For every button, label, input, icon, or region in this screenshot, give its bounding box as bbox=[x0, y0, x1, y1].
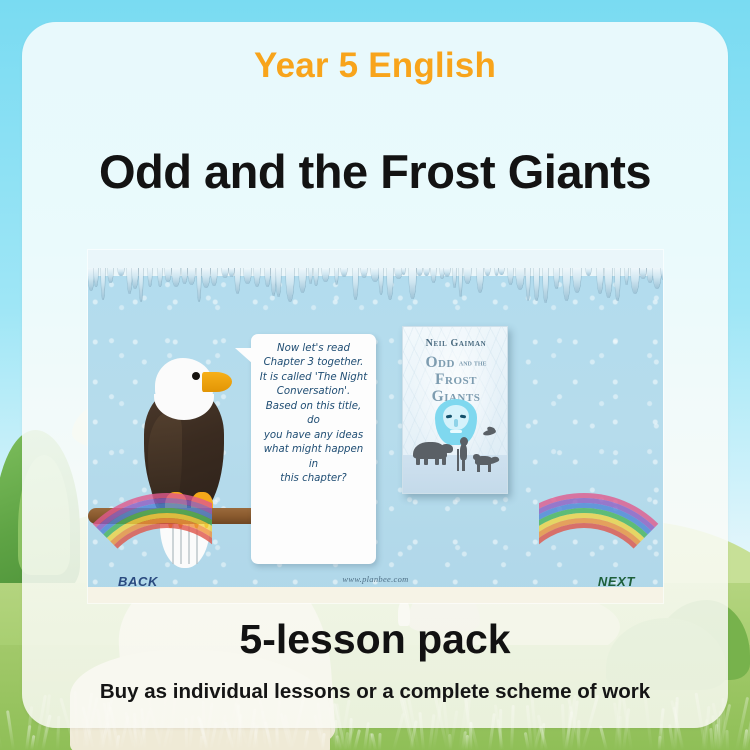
icicle bbox=[459, 268, 462, 297]
icicle bbox=[222, 268, 228, 278]
icicle bbox=[615, 268, 620, 301]
icicle bbox=[625, 268, 628, 285]
icicle bbox=[661, 268, 663, 280]
icicle bbox=[573, 268, 581, 293]
icicle bbox=[605, 268, 612, 298]
icicle bbox=[516, 268, 524, 290]
icicle bbox=[597, 268, 603, 294]
subject-label: Year 5 English bbox=[22, 46, 728, 86]
icicle bbox=[485, 268, 490, 276]
product-listing-image: Year 5 English Odd and the Frost Giants bbox=[0, 0, 750, 750]
icicle bbox=[586, 268, 591, 276]
bear-silhouette-leg bbox=[424, 457, 428, 465]
icicle bbox=[182, 268, 188, 284]
icicle bbox=[653, 268, 661, 289]
grass-blade bbox=[321, 733, 326, 750]
icicle bbox=[444, 268, 450, 277]
icicle bbox=[402, 268, 405, 275]
icicle bbox=[211, 268, 217, 286]
book-title-line-1: Odd bbox=[425, 354, 454, 371]
icicle bbox=[172, 268, 180, 287]
icicle bbox=[371, 268, 379, 282]
content-card: Year 5 English Odd and the Frost Giants bbox=[22, 22, 728, 728]
icicle bbox=[309, 268, 312, 284]
eagle-beak bbox=[202, 372, 232, 392]
icicle bbox=[554, 268, 559, 289]
book-cover: Neil Gaiman Odd and the Frost Giants bbox=[402, 326, 508, 494]
icicle bbox=[322, 268, 329, 282]
icicle-border bbox=[88, 268, 663, 314]
icicle bbox=[158, 268, 162, 287]
icicle bbox=[314, 268, 318, 286]
icicle bbox=[647, 268, 653, 283]
fox-silhouette-head bbox=[473, 454, 480, 460]
icicle bbox=[235, 268, 240, 294]
speech-bubble-text: Now let's read Chapter 3 together. It is… bbox=[258, 342, 369, 556]
icicle bbox=[229, 268, 234, 277]
icicle bbox=[361, 268, 366, 278]
boy-silhouette-icon bbox=[460, 444, 467, 460]
icicle bbox=[387, 268, 393, 300]
icicle bbox=[271, 268, 275, 296]
pack-label: 5-lesson pack bbox=[22, 616, 728, 663]
speech-bubble: Now let's read Chapter 3 together. It is… bbox=[251, 334, 376, 564]
icicle bbox=[148, 268, 152, 287]
icicle bbox=[508, 268, 513, 285]
icicle bbox=[526, 268, 530, 301]
icicle bbox=[464, 268, 471, 284]
page-title: Odd and the Frost Giants bbox=[22, 144, 728, 199]
icicle bbox=[477, 268, 484, 293]
grass-blade bbox=[0, 693, 3, 750]
icicle bbox=[188, 268, 195, 285]
lesson-slide-preview[interactable]: Now let's read Chapter 3 together. It is… bbox=[88, 250, 663, 603]
boy-silhouette-leg bbox=[462, 459, 465, 471]
icicle bbox=[640, 268, 646, 279]
watermark-url: www.planbee.com bbox=[88, 574, 663, 584]
frost-giant-nose bbox=[454, 419, 458, 427]
icicle bbox=[254, 268, 260, 287]
icicle bbox=[118, 268, 124, 276]
icicle bbox=[299, 268, 306, 293]
icicle bbox=[353, 268, 358, 300]
icicle bbox=[165, 268, 171, 282]
grass-blade bbox=[275, 727, 280, 750]
grass-blade bbox=[725, 730, 729, 750]
fox-silhouette-leg bbox=[477, 464, 480, 472]
grass-blade bbox=[353, 729, 361, 750]
icicle bbox=[409, 268, 416, 299]
book-title-line-2: Frost bbox=[435, 371, 477, 388]
icicle bbox=[341, 268, 346, 277]
icicle bbox=[94, 268, 98, 287]
icicle bbox=[244, 268, 252, 284]
bear-silhouette-leg bbox=[416, 457, 420, 465]
boy-silhouette-stick bbox=[457, 449, 459, 471]
grass-blade bbox=[370, 733, 376, 750]
icicle bbox=[379, 268, 383, 295]
icicle bbox=[139, 268, 142, 302]
icicle bbox=[101, 268, 104, 300]
icicle bbox=[495, 268, 498, 276]
eagle-eye bbox=[192, 372, 200, 380]
book-author: Neil Gaiman bbox=[403, 338, 508, 349]
icicle bbox=[286, 268, 294, 302]
grass-blade bbox=[599, 725, 608, 750]
icicle bbox=[88, 268, 94, 291]
icicle bbox=[543, 268, 548, 303]
book-title: Odd and the Frost Giants bbox=[403, 355, 508, 405]
fox-silhouette-leg bbox=[488, 464, 491, 472]
grass-blade bbox=[6, 710, 15, 750]
icicle bbox=[431, 268, 435, 283]
icicle bbox=[453, 268, 457, 288]
icicle bbox=[202, 268, 209, 288]
icicle bbox=[563, 268, 570, 301]
bear-silhouette-leg bbox=[435, 457, 439, 465]
icicle bbox=[424, 268, 429, 276]
icicle bbox=[534, 268, 540, 301]
icicle bbox=[132, 268, 138, 289]
icicle bbox=[276, 268, 280, 297]
frost-giant-mouth bbox=[450, 430, 462, 433]
slide-bottom-band bbox=[88, 587, 663, 603]
boy-silhouette-head bbox=[460, 437, 468, 446]
book-title-and: and the bbox=[459, 359, 487, 368]
grass-blade bbox=[378, 733, 382, 750]
icicle bbox=[631, 268, 639, 294]
bear-silhouette-leg bbox=[442, 457, 446, 465]
icicle bbox=[417, 268, 423, 276]
icicle bbox=[197, 268, 200, 302]
bear-silhouette-head bbox=[441, 444, 453, 453]
icicle bbox=[395, 268, 402, 279]
icicle bbox=[499, 268, 504, 275]
grass-blade bbox=[303, 730, 309, 750]
pack-subtitle: Buy as individual lessons or a complete … bbox=[22, 680, 728, 704]
icicle bbox=[265, 268, 270, 287]
icicle bbox=[335, 268, 338, 285]
icicle bbox=[108, 268, 113, 283]
icicle bbox=[127, 268, 131, 294]
